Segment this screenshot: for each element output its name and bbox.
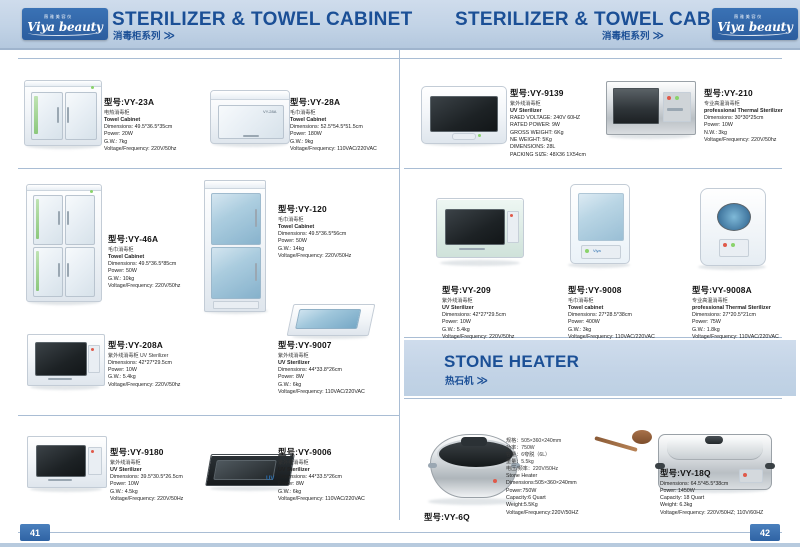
product-image-vy-28a: VY-28A xyxy=(208,82,290,150)
product-dimensions-vy-210: Dimensions: 30*30*25cm xyxy=(704,115,783,122)
stone-heater-subtitle-text: 热石机 xyxy=(445,376,474,387)
product-dimensions-vy-208a: Dimensions: 42*27*29.5cm xyxy=(108,360,180,367)
product-power-vy-9008a: Power: 75W xyxy=(692,319,779,326)
product-spec-vy-9180: 型号:VY-9180 紫外线消毒柜 UV Sterilizer Dimensio… xyxy=(110,447,183,503)
product-name-cn-vy-23a: 电热消毒柜 xyxy=(104,110,176,117)
product-name-en-vy-9008: Towel cabinet xyxy=(568,305,655,312)
product-voltage-vy-46a: Voltage/Frequency: 220V/50hz xyxy=(108,283,180,290)
product-dimensions-vy-18q: Dimensions: 64.5*45.5*38cm xyxy=(660,481,763,488)
product-spec-cn-4-vy-6q: 电压/频率：220V/50Hz xyxy=(506,466,578,473)
product-image-vy-9008a xyxy=(690,182,776,274)
product-net-weight-vy-9139: NE WEIGHT: 5Kg xyxy=(510,137,586,144)
product-name-en-vy-9139: UV Sterilizer xyxy=(510,108,586,115)
brand-logo-right: 薇雅美容仪 Viya beauty xyxy=(712,8,798,40)
product-spec-cn-3-vy-6q: 重量：5.5kg xyxy=(506,459,578,466)
product-dimensions-vy-46a: Dimensions: 49.5*36.5*85cm xyxy=(108,261,180,268)
product-power-vy-28a: Power: 180W xyxy=(290,131,377,138)
product-name-cn-vy-9139: 紫外线消毒柜 xyxy=(510,101,586,108)
chevron-right-icon-right: ≫ xyxy=(653,30,663,42)
product-weight-vy-210: N.W.: 3kg xyxy=(704,130,783,137)
stone-heater-banner: STONE HEATER 热石机≫ xyxy=(404,340,796,396)
product-power-vy-9180: Power: 10W xyxy=(110,481,183,488)
product-name-en-vy-209: UV Sterilizer xyxy=(442,305,514,312)
product-dimensions-vy-9007: Dimensions: 44*33.8*26cm xyxy=(278,367,365,374)
product-spec-vy-18q: 型号:VY-18Q Dimensions: 64.5*45.5*38cm Pow… xyxy=(660,468,763,517)
product-weight-vy-208a: G.W.: 5.4kg xyxy=(108,374,180,381)
product-model-vy-210: 型号:VY-210 xyxy=(704,88,783,100)
stone-heater-subtitle: 热石机≫ xyxy=(445,373,486,387)
product-name-en-vy-120: Towel Cabinet xyxy=(278,224,351,231)
product-name-cn-vy-9008a: 专业高温消毒柜 xyxy=(692,298,779,305)
product-image-vy-23a xyxy=(22,78,102,150)
brand-swoosh-left xyxy=(28,28,102,36)
product-dimensions-vy-9008a: Dimensions: 27*20.5*21cm xyxy=(692,312,779,319)
product-name-cn-vy-210: 专业高温消毒柜 xyxy=(704,101,783,108)
product-power-vy-23a: Power: 20W xyxy=(104,131,176,138)
header-title-right: STERILIZER & TOWEL CABINET xyxy=(455,10,756,29)
product-voltage-vy-120: Voltage/Frequency: 220V/50Hz xyxy=(278,253,351,260)
product-power-vy-210: Power: 10W xyxy=(704,122,783,129)
product-voltage-vy-28a: Voltage/Frequency: 110VAC/220VAC xyxy=(290,146,377,153)
product-dimensions-vy-209: Dimensions: 42*27*29.5cm xyxy=(442,312,514,319)
product-name-cn-vy-28a: 毛巾消毒柜 xyxy=(290,110,377,117)
product-weight-vy-120: G.W.: 14kg xyxy=(278,246,351,253)
product-weight-vy-209: G.W.: 5.4kg xyxy=(442,327,514,334)
product-spec-vy-208a: 型号:VY-208A 紫外线消毒柜 UV Sterilizer Dimensio… xyxy=(108,340,180,389)
header-subtitle-right-text: 消毒柜系列 xyxy=(602,31,650,42)
product-image-vy-210 xyxy=(600,75,700,145)
product-spec-cn-2-vy-6q: 容量：6夸脱（6L） xyxy=(506,452,578,459)
product-name-cn-vy-208a: 紫外线消毒柜 UV Sterilizer xyxy=(108,353,180,360)
product-model-vy-9007: 型号:VY-9007 xyxy=(278,340,365,352)
product-spec-vy-9007: 型号:VY-9007 紫外线消毒柜 UV Sterilizer Dimensio… xyxy=(278,340,365,396)
product-voltage-vy-23a: Voltage/Frequency: 220V/50hz xyxy=(104,146,176,153)
product-spec-vy-210: 型号:VY-210 专业高温消毒柜 professional Thermal S… xyxy=(704,88,783,144)
product-spec-vy-23a: 型号:VY-23A 电热消毒柜 Towel Cabinet Dimensions… xyxy=(104,97,176,153)
header-title-left: STERILIZER & TOWEL CABINET xyxy=(112,10,413,29)
product-name-cn-vy-209: 紫外线消毒柜 xyxy=(442,298,514,305)
product-name-cn-vy-46a: 毛巾消毒柜 xyxy=(108,247,180,254)
product-power-vy-9008: Power: 400W xyxy=(568,319,655,326)
brand-logo-left: 薇雅美容仪 Viya beauty xyxy=(22,8,108,40)
product-power-vy-120: Power: 50W xyxy=(278,238,351,245)
product-power-vy-208a: Power: 10W xyxy=(108,367,180,374)
product-name-en-vy-210: professional Thermal Sterilizer xyxy=(704,108,783,115)
brand-swoosh-right xyxy=(718,28,792,36)
product-spec-cn-1-vy-6q: 功率：750W xyxy=(506,445,578,452)
product-name-en-vy-28a: Towel Cabinet xyxy=(290,117,377,124)
product-model-vy-209: 型号:VY-209 xyxy=(442,285,514,297)
product-power-vy-6q: Power:750W xyxy=(506,488,578,495)
product-power-vy-9006: Power: 8W xyxy=(278,481,365,488)
product-power-vy-9139: RATED POWER: 9W xyxy=(510,122,586,129)
product-voltage-vy-210: Voltage/Frequency: 220V/50hz xyxy=(704,137,783,144)
product-weight-vy-28a: G.W.: 9kg xyxy=(290,139,377,146)
product-model-vy-9180: 型号:VY-9180 xyxy=(110,447,183,459)
product-name-cn-vy-9180: 紫外线消毒柜 xyxy=(110,460,183,467)
product-weight-vy-23a: G.W.: 7kg xyxy=(104,139,176,146)
product-weight-vy-9006: G.W.: 6kg xyxy=(278,489,365,496)
product-dimensions-vy-23a: Dimensions: 49.5*36.5*35cm xyxy=(104,124,176,131)
rule-right-1 xyxy=(404,168,782,169)
product-gross-weight-vy-9139: GROSS WEIGHT: 6Kg xyxy=(510,130,586,137)
product-spec-cn-0-vy-6q: 规格：505×360×240mm xyxy=(506,438,578,445)
product-dimensions-vy-28a: Dimensions: 52.5*54.5*51.5cm xyxy=(290,124,377,131)
product-capacity-vy-18q: Capacity: 18 Quart xyxy=(660,495,763,502)
product-image-vy-9008: Viya xyxy=(562,180,638,272)
product-power-vy-9007: Power: 8W xyxy=(278,374,365,381)
product-name-en-vy-6q: Stone Heater xyxy=(506,473,578,480)
page-number-left: 41 xyxy=(20,524,50,541)
product-model-vy-9139: 型号:VY-9139 xyxy=(510,88,586,100)
product-name-en-vy-23a: Towel Cabinet xyxy=(104,117,176,124)
product-voltage-vy-208a: Voltage/Frequency: 220V/50hz xyxy=(108,382,180,389)
product-name-cn-vy-9007: 紫外线消毒柜 xyxy=(278,353,365,360)
product-image-vy-9139 xyxy=(418,80,508,150)
product-weight-vy-9008: G.W.: 3kg xyxy=(568,327,655,334)
product-weight-vy-9008a: G.W.: 1.8kg xyxy=(692,327,779,334)
product-image-vy-120 xyxy=(200,178,272,318)
product-voltage-vy-9180: Voltage/Frequency: 220V/50Hz xyxy=(110,496,183,503)
product-spec-vy-9008a: 型号:VY-9008A 专业高温消毒柜 professional Thermal… xyxy=(692,285,779,341)
product-spec-vy-6q: 规格：505×360×240mm 功率：750W 容量：6夸脱（6L） 重量：5… xyxy=(506,438,578,517)
product-voltage-vy-18q: Voltage/Frequency: 220V/50HZ; 110V/60HZ xyxy=(660,510,763,517)
product-spec-vy-6q-model: 型号:VY-6Q xyxy=(424,512,470,525)
product-voltage-vy-9007: Voltage/Frequency: 110VAC/220VAC xyxy=(278,389,365,396)
product-dimensions-vy-6q: Dimensions:505×360×240mm xyxy=(506,480,578,487)
product-voltage-vy-6q: Voltage/Frequency:220V/50HZ xyxy=(506,510,578,517)
footer-rule xyxy=(18,532,782,533)
rule-left-1 xyxy=(18,168,399,169)
product-image-wooden-spoon xyxy=(592,428,656,462)
product-name-en-vy-9007: UV Sterilizer xyxy=(278,360,365,367)
product-dimensions-vy-9139: DIMENSIONS: 28L xyxy=(510,144,586,151)
product-weight-vy-18q: Weight: 6.3kg xyxy=(660,502,763,509)
product-model-vy-208a: 型号:VY-208A xyxy=(108,340,180,352)
product-dimensions-vy-9008: Dimensions: 27*28.5*38cm xyxy=(568,312,655,319)
product-model-vy-120: 型号:VY-120 xyxy=(278,204,351,216)
product-model-vy-9006: 型号:VY-9006 xyxy=(278,447,365,459)
product-spec-vy-46a: 型号:VY-46A 毛巾消毒柜 Towel Cabinet Dimensions… xyxy=(108,234,180,290)
product-image-vy-9180 xyxy=(24,432,108,494)
header-subtitle-left-text: 消毒柜系列 xyxy=(113,31,161,42)
stone-heater-title: STONE HEATER xyxy=(444,352,579,372)
product-name-en-vy-9180: UV Sterilizer xyxy=(110,467,183,474)
product-voltage-vy-9006: Voltage/Frequency: 110VAC/220VAC xyxy=(278,496,365,503)
product-dimensions-vy-120: Dimensions: 49.5*36.5*56cm xyxy=(278,231,351,238)
product-spec-vy-9008: 型号:VY-9008 毛巾消毒柜 Towel cabinet Dimension… xyxy=(568,285,655,341)
product-dimensions-vy-9006: Dimensions: 44*33.5*26cm xyxy=(278,474,365,481)
product-spec-vy-209: 型号:VY-209 紫外线消毒柜 UV Sterilizer Dimension… xyxy=(442,285,514,341)
brand-logo-cn-left: 薇雅美容仪 xyxy=(44,15,73,19)
header-subtitle-right: 消毒柜系列≫ xyxy=(602,31,662,42)
product-voltage-vy-9139: RAED VOLTAGE: 240V 60HZ xyxy=(510,115,586,122)
product-name-cn-vy-9006: 紫外线消毒柜 xyxy=(278,460,365,467)
product-image-vy-46a xyxy=(24,182,104,307)
product-model-vy-9008: 型号:VY-9008 xyxy=(568,285,655,297)
product-name-cn-vy-9008: 毛巾消毒柜 xyxy=(568,298,655,305)
product-name-en-vy-46a: Towel Cabinet xyxy=(108,254,180,261)
product-spec-vy-9006: 型号:VY-9006 紫外线消毒柜 UV Sterilizer Dimensio… xyxy=(278,447,365,503)
uv-label-vy-9006: UV xyxy=(266,476,274,482)
page-number-right: 42 xyxy=(750,524,780,541)
chevron-right-icon-stone: ≫ xyxy=(477,375,487,387)
product-spec-vy-28a: 型号:VY-28A 毛巾消毒柜 Towel Cabinet Dimensions… xyxy=(290,97,377,153)
product-model-vy-23a: 型号:VY-23A xyxy=(104,97,176,109)
product-power-vy-18q: Power: 1450W xyxy=(660,488,763,495)
product-spec-vy-9139: 型号:VY-9139 紫外线消毒柜 UV Sterilizer RAED VOL… xyxy=(510,88,586,159)
page-header: 薇雅美容仪 Viya beauty STERILIZER & TOWEL CAB… xyxy=(0,0,800,50)
product-image-vy-209 xyxy=(432,190,528,270)
header-subtitle-left: 消毒柜系列≫ xyxy=(113,31,173,42)
product-weight-vy-6q: Weight:5.5Kg xyxy=(506,502,578,509)
product-model-vy-46a: 型号:VY-46A xyxy=(108,234,180,246)
product-capacity-vy-6q: Capacity:6 Quart xyxy=(506,495,578,502)
product-packing-size-vy-9139: PACKING SIZE: 48X36 1X54cm xyxy=(510,152,586,159)
product-power-vy-209: Power: 10W xyxy=(442,319,514,326)
product-model-vy-9008a: 型号:VY-9008A xyxy=(692,285,779,297)
column-divider xyxy=(399,50,400,520)
product-image-vy-208a xyxy=(24,330,106,392)
product-weight-vy-46a: G.W.: 10kg xyxy=(108,276,180,283)
catalog-page: 薇雅美容仪 Viya beauty STERILIZER & TOWEL CAB… xyxy=(0,0,800,547)
footer-bar xyxy=(0,543,800,547)
product-name-en-vy-9008a: professional Thermal Sterilizer xyxy=(692,305,779,312)
rule-right-3 xyxy=(404,398,782,399)
product-model-vy-28a: 型号:VY-28A xyxy=(290,97,377,109)
product-name-en-vy-9006: UV Sterilizer xyxy=(278,467,365,474)
product-weight-vy-9180: G.W.: 4.5kg xyxy=(110,489,183,496)
brand-logo-cn-right: 薇雅美容仪 xyxy=(734,15,763,19)
rule-left-2 xyxy=(18,415,399,416)
product-spec-vy-120: 型号:VY-120 毛巾消毒柜 Towel Cabinet Dimensions… xyxy=(278,204,351,260)
rule-top xyxy=(18,58,782,59)
product-model-vy-6q: 型号:VY-6Q xyxy=(424,512,470,524)
product-dimensions-vy-9180: Dimensions: 39.5*30.5*26.5cm xyxy=(110,474,183,481)
product-image-vy-9007 xyxy=(286,300,376,342)
product-model-vy-18q: 型号:VY-18Q xyxy=(660,468,763,480)
product-weight-vy-9007: G.W.: 6kg xyxy=(278,382,365,389)
chevron-right-icon-left: ≫ xyxy=(164,30,174,42)
product-power-vy-46a: Power: 50W xyxy=(108,268,180,275)
product-name-cn-vy-120: 毛巾消毒柜 xyxy=(278,217,351,224)
